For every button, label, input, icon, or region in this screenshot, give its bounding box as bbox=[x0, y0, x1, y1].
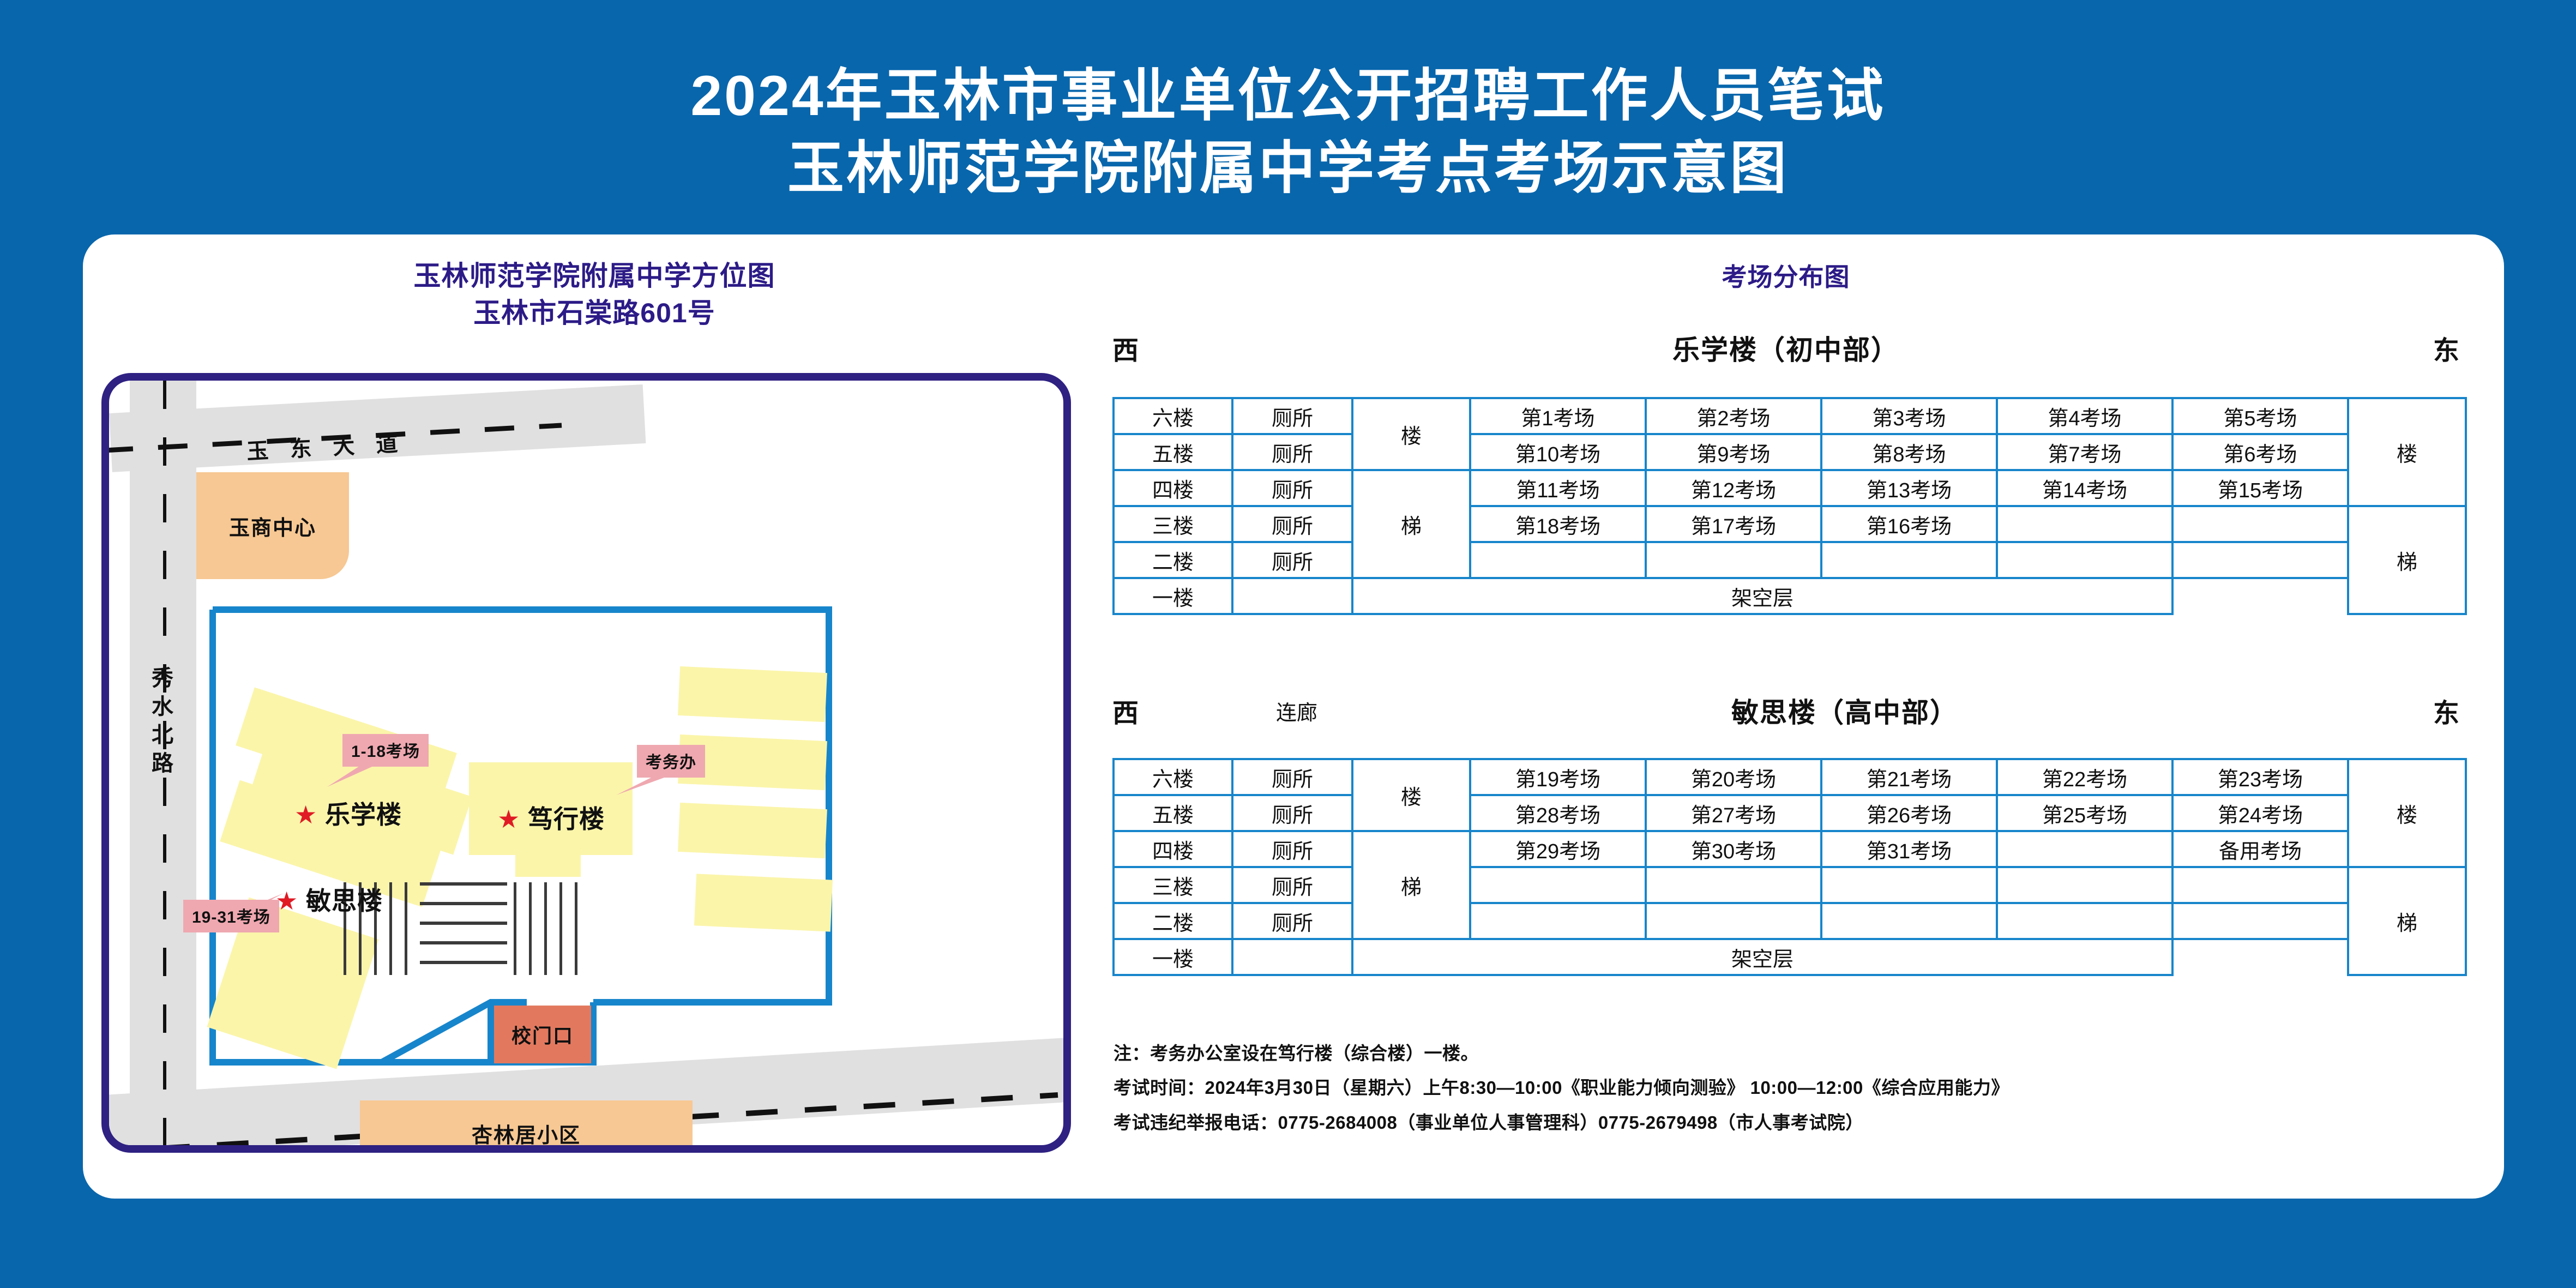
exam-table-minsi: 六楼 厕所 楼 第19考场 第20考场 第21考场 第22考场 第23考场 楼 … bbox=[1112, 758, 2467, 976]
cell-room: 第11考场 bbox=[1470, 470, 1646, 506]
cell-stair-bottom-1: 梯 bbox=[1352, 470, 1470, 578]
cell-floor: 二楼 bbox=[1114, 903, 1232, 939]
east-label-1: 东 bbox=[2334, 329, 2459, 367]
cell-floor: 二楼 bbox=[1114, 542, 1232, 578]
cell-room: 第22考场 bbox=[1997, 759, 2172, 795]
cell-room-empty bbox=[2172, 506, 2348, 542]
cell-toilet: 厕所 bbox=[1232, 759, 1352, 795]
cell-room: 第21考场 bbox=[1821, 759, 1997, 795]
cell-room: 第1考场 bbox=[1470, 398, 1646, 434]
cell-room-empty bbox=[1646, 542, 1821, 578]
cell-toilet: 厕所 bbox=[1232, 434, 1352, 470]
cell-room-empty bbox=[1997, 867, 2172, 903]
cell-room-empty bbox=[1646, 903, 1821, 939]
cell-floor: 三楼 bbox=[1114, 867, 1232, 903]
callout-exam-office: 考务办 bbox=[637, 745, 705, 778]
cell-floor: 五楼 bbox=[1114, 434, 1232, 470]
cell-room: 第3考场 bbox=[1821, 398, 1997, 434]
cell-floor: 四楼 bbox=[1114, 831, 1232, 867]
cell-stair-bottom-2: 梯 bbox=[1352, 831, 1470, 939]
map-heading-line-2: 玉林市石棠路601号 bbox=[115, 294, 1074, 332]
note-line-3: 考试违纪举报电话：0775-2684008（事业单位人事管理科）0775-267… bbox=[1114, 1105, 2466, 1140]
table-row: 五楼 厕所 第28考场 第27考场 第26考场 第25考场 第24考场 bbox=[1114, 795, 2466, 831]
cell-room: 第5考场 bbox=[2172, 398, 2348, 434]
west-label-1: 西 bbox=[1112, 329, 1238, 367]
campus-location-map: 玉 东 大 道 石 棠 路 秀水北路 玉商中心 杏林居小区 bbox=[101, 373, 1071, 1153]
cell-stair-top-2: 楼 bbox=[1352, 759, 1470, 831]
cell-toilet: 厕所 bbox=[1232, 398, 1352, 434]
table-row: 四楼 厕所 梯 第11考场 第12考场 第13考场 第14考场 第15考场 bbox=[1114, 470, 2466, 506]
building-label-minsi: ★ 敏思楼 bbox=[275, 881, 383, 917]
cell-toilet-empty bbox=[1232, 939, 1352, 975]
west-label-2: 西 bbox=[1112, 691, 1238, 730]
cell-room: 第18考场 bbox=[1470, 506, 1646, 542]
cell-toilet: 厕所 bbox=[1232, 470, 1352, 506]
table-row: 二楼 厕所 bbox=[1114, 903, 2466, 939]
cell-room: 第25考场 bbox=[1997, 795, 2172, 831]
poster-title: 2024年玉林市事业单位公开招聘工作人员笔试 玉林师范学院附属中学考点考场示意图 bbox=[0, 60, 2576, 205]
cell-room: 第30考场 bbox=[1646, 831, 1821, 867]
cell-floor: 五楼 bbox=[1114, 795, 1232, 831]
cell-stair-top-1: 楼 bbox=[1352, 398, 1470, 470]
cell-toilet: 厕所 bbox=[1232, 542, 1352, 578]
cell-room: 第10考场 bbox=[1470, 434, 1646, 470]
building-name-duxing: 笃行楼 bbox=[528, 805, 605, 833]
cell-toilet: 厕所 bbox=[1232, 867, 1352, 903]
cell-room-empty bbox=[2172, 867, 2348, 903]
star-icon: ★ bbox=[497, 805, 520, 833]
cell-toilet: 厕所 bbox=[1232, 903, 1352, 939]
cell-room: 第17考场 bbox=[1646, 506, 1821, 542]
cell-room-empty bbox=[1470, 542, 1646, 578]
cell-room-empty bbox=[1646, 867, 1821, 903]
title-line-1: 2024年玉林市事业单位公开招聘工作人员笔试 bbox=[0, 60, 2576, 133]
cell-room: 第27考场 bbox=[1646, 795, 1821, 831]
callout-tails bbox=[109, 381, 1063, 1149]
cell-room-empty bbox=[1997, 831, 2172, 867]
cell-room: 第20考场 bbox=[1646, 759, 1821, 795]
east-label-2: 东 bbox=[2334, 691, 2459, 730]
table-row: 一楼 架空层 bbox=[1114, 939, 2466, 975]
table-row: 三楼 厕所 第18考场 第17考场 第16考场 梯 bbox=[1114, 506, 2466, 542]
cell-room: 第24考场 bbox=[2172, 795, 2348, 831]
exam-table-lexue: 六楼 厕所 楼 第1考场 第2考场 第3考场 第4考场 第5考场 楼 五楼 厕所… bbox=[1112, 397, 2467, 615]
table-row: 二楼 厕所 bbox=[1114, 542, 2466, 578]
cell-room: 备用考场 bbox=[2172, 831, 2348, 867]
building-label-duxing: ★ 笃行楼 bbox=[497, 799, 605, 835]
map-heading: 玉林师范学院附属中学方位图 玉林市石棠路601号 bbox=[115, 257, 1074, 332]
cell-room: 第13考场 bbox=[1821, 470, 1997, 506]
table-row: 六楼 厕所 楼 第19考场 第20考场 第21考场 第22考场 第23考场 楼 bbox=[1114, 759, 2466, 795]
cell-room-empty bbox=[2172, 903, 2348, 939]
cell-room-empty bbox=[1470, 867, 1646, 903]
cell-toilet: 厕所 bbox=[1232, 506, 1352, 542]
cell-room-empty bbox=[2172, 542, 2348, 578]
poster-root: 2024年玉林市事业单位公开招聘工作人员笔试 玉林师范学院附属中学考点考场示意图… bbox=[0, 0, 2576, 1288]
cell-stair-right-top-2: 楼 bbox=[2348, 759, 2466, 867]
cell-room: 第23考场 bbox=[2172, 759, 2348, 795]
star-icon: ★ bbox=[275, 887, 298, 915]
exam-layout-heading: 考场分布图 bbox=[1112, 257, 2459, 293]
building-name-lexue: 乐学楼 bbox=[325, 801, 402, 829]
cell-room: 第8考场 bbox=[1821, 434, 1997, 470]
cell-room: 第16考场 bbox=[1821, 506, 1997, 542]
cell-room-empty bbox=[1821, 542, 1997, 578]
cell-room-empty bbox=[1821, 903, 1997, 939]
cell-room-empty bbox=[1997, 903, 2172, 939]
cell-room-empty bbox=[1997, 542, 2172, 578]
title-line-2: 玉林师范学院附属中学考点考场示意图 bbox=[0, 133, 2576, 205]
corridor-label: 连廊 bbox=[1238, 696, 1356, 726]
building-label-lexue: ★ 乐学楼 bbox=[294, 795, 402, 831]
cell-ground-floor: 架空层 bbox=[1352, 578, 2172, 614]
cell-room-empty bbox=[1821, 867, 1997, 903]
cell-floor: 一楼 bbox=[1114, 939, 1232, 975]
cell-room: 第14考场 bbox=[1997, 470, 2172, 506]
cell-stair-right-bottom-2: 梯 bbox=[2348, 867, 2466, 975]
table-row: 四楼 厕所 梯 第29考场 第30考场 第31考场 备用考场 bbox=[1114, 831, 2466, 867]
cell-stair-right-top-1: 楼 bbox=[2348, 398, 2466, 506]
cell-floor: 六楼 bbox=[1114, 398, 1232, 434]
cell-floor: 四楼 bbox=[1114, 470, 1232, 506]
callout-rooms-1-18: 1-18考场 bbox=[342, 734, 429, 767]
cell-floor: 一楼 bbox=[1114, 578, 1232, 614]
building-title-2: 敏思楼（高中部） bbox=[1356, 691, 2334, 730]
cell-room: 第19考场 bbox=[1470, 759, 1646, 795]
direction-row-table-2: 西 连廊 敏思楼（高中部） 东 bbox=[1112, 690, 2459, 731]
cell-room-empty bbox=[1470, 903, 1646, 939]
cell-room: 第2考场 bbox=[1646, 398, 1821, 434]
cell-room: 第26考场 bbox=[1821, 795, 1997, 831]
note-line-1: 注：考务办公室设在笃行楼（综合楼）一楼。 bbox=[1114, 1036, 2466, 1070]
building-title-1: 乐学楼（初中部） bbox=[1238, 328, 2334, 368]
cell-room: 第31考场 bbox=[1821, 831, 1997, 867]
cell-room-empty bbox=[1997, 506, 2172, 542]
cell-toilet-empty bbox=[1232, 578, 1352, 614]
table-row: 三楼 厕所 梯 bbox=[1114, 867, 2466, 903]
footer-notes: 注：考务办公室设在笃行楼（综合楼）一楼。 考试时间：2024年3月30日（星期六… bbox=[1114, 1036, 2466, 1140]
map-heading-line-1: 玉林师范学院附属中学方位图 bbox=[115, 257, 1074, 294]
building-name-minsi: 敏思楼 bbox=[306, 887, 383, 915]
map-canvas: 玉 东 大 道 石 棠 路 秀水北路 玉商中心 杏林居小区 bbox=[109, 381, 1063, 1145]
cell-toilet: 厕所 bbox=[1232, 795, 1352, 831]
cell-room: 第7考场 bbox=[1997, 434, 2172, 470]
cell-ground-floor: 架空层 bbox=[1352, 939, 2172, 975]
note-line-2: 考试时间：2024年3月30日（星期六）上午8:30—10:00《职业能力倾向测… bbox=[1114, 1070, 2466, 1105]
table-row: 五楼 厕所 第10考场 第9考场 第8考场 第7考场 第6考场 bbox=[1114, 434, 2466, 470]
table-row: 一楼 架空层 bbox=[1114, 578, 2466, 614]
cell-floor: 三楼 bbox=[1114, 506, 1232, 542]
cell-room: 第15考场 bbox=[2172, 470, 2348, 506]
cell-room: 第6考场 bbox=[2172, 434, 2348, 470]
cell-floor: 六楼 bbox=[1114, 759, 1232, 795]
cell-room: 第29考场 bbox=[1470, 831, 1646, 867]
cell-room: 第28考场 bbox=[1470, 795, 1646, 831]
cell-stair-right-bottom-1: 梯 bbox=[2348, 506, 2466, 614]
star-icon: ★ bbox=[294, 801, 317, 829]
table-row: 六楼 厕所 楼 第1考场 第2考场 第3考场 第4考场 第5考场 楼 bbox=[1114, 398, 2466, 434]
direction-row-table-1: 西 乐学楼（初中部） 东 bbox=[1112, 327, 2459, 369]
cell-room: 第4考场 bbox=[1997, 398, 2172, 434]
callout-rooms-19-31: 19-31考场 bbox=[183, 900, 279, 932]
cell-room: 第12考场 bbox=[1646, 470, 1821, 506]
cell-room: 第9考场 bbox=[1646, 434, 1821, 470]
cell-toilet: 厕所 bbox=[1232, 831, 1352, 867]
